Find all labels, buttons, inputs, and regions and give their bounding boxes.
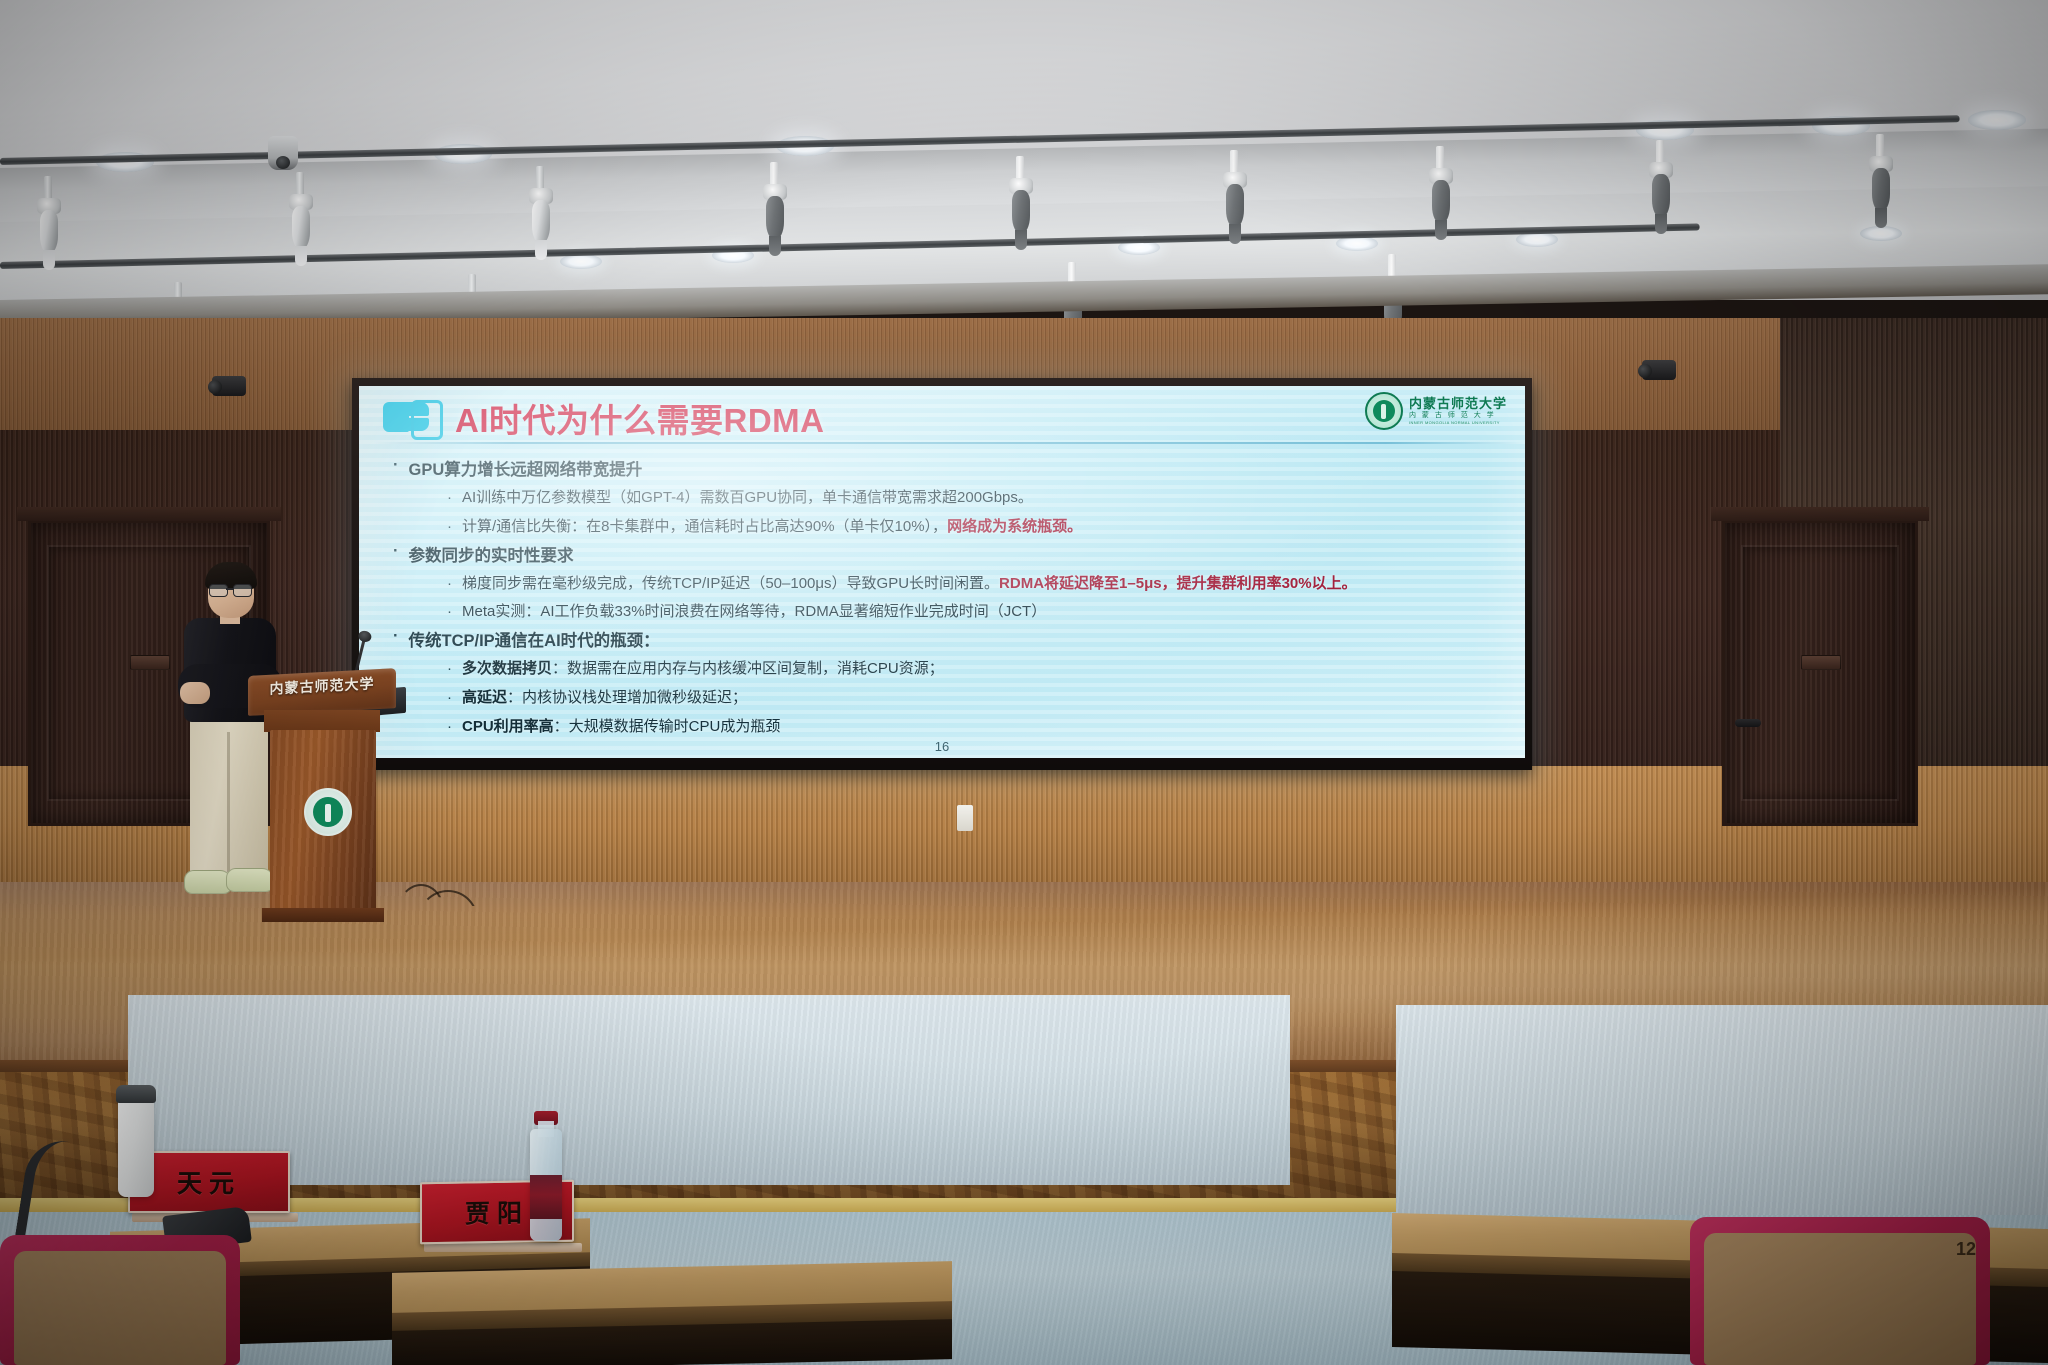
plain-text: ：大规模数据传输时CPU成为瓶颈 (554, 718, 781, 735)
bullet-dot-icon: · (447, 516, 452, 538)
plain-text: Meta实测：AI工作负载33%时间浪费在网络等待，RDMA显著缩短作业完成时间… (462, 603, 1046, 620)
wall-camera-icon (212, 376, 246, 396)
door-handle-icon[interactable] (1735, 719, 1761, 727)
recessed-downlight-icon (1968, 110, 2026, 130)
wall-outlet[interactable] (957, 805, 973, 831)
led-display-screen: AI时代为什么需要RDMA 内蒙古师范大学 内 蒙 古 师 范 大 学 INNE… (352, 378, 1532, 770)
slide-bullet: ·梯度同步需在毫秒级完成，传统TCP/IP延迟（50–100μs）导致GPU长时… (447, 573, 1507, 595)
title-divider (375, 442, 1523, 444)
slide-section-heading: ·传统TCP/IP通信在AI时代的瓶颈： (393, 627, 1507, 651)
university-logo: 内蒙古师范大学 内 蒙 古 师 范 大 学 INNER MONGOLIA NOR… (1365, 392, 1507, 430)
door-sign-plate (1801, 655, 1841, 670)
bullet-text: 计算/通信比失衡：在8卡集群中，通信耗时占比高达90%（单卡仅10%），网络成为… (462, 516, 1082, 538)
plain-text: ：数据需在应用内存与内核缓冲区间复制，消耗CPU资源； (552, 660, 944, 677)
audience-chair-right[interactable]: 12 (1690, 1217, 1990, 1365)
presentation-slide: AI时代为什么需要RDMA 内蒙古师范大学 内 蒙 古 师 范 大 学 INNE… (359, 386, 1525, 758)
podium-body (270, 730, 376, 912)
slide-bullet: ·AI训练中万亿参数模型（如GPT-4）需数百GPU协同，单卡通信带宽需求超20… (447, 487, 1507, 509)
plain-text: ：内核协议栈处理增加微秒级延迟； (507, 689, 747, 706)
bold-term: 多次数据拷贝 (462, 660, 552, 677)
door-sign-plate (130, 655, 170, 670)
bold-term: 高延迟 (462, 689, 507, 706)
slide-section-heading: ·参数同步的实时性要求 (393, 542, 1507, 566)
thermos-cap[interactable] (116, 1085, 156, 1103)
bullet-dot-icon: · (447, 716, 452, 738)
bullet-text: CPU利用率高：大规模数据传输时CPU成为瓶颈 (462, 716, 780, 738)
ceiling (0, 0, 2048, 300)
university-seal-icon (304, 788, 352, 836)
speaker-hand (180, 682, 210, 704)
door-frame-top (1711, 507, 1929, 521)
door-panel (1741, 545, 1899, 801)
slide-bullet: ·多次数据拷贝：数据需在应用内存与内核缓冲区间复制，消耗CPU资源； (447, 658, 1507, 680)
university-name-cn: 内蒙古师范大学 (1409, 397, 1507, 410)
section-heading-text: GPU算力增长远超网络带宽提升 (409, 456, 643, 480)
placard-stand (424, 1243, 582, 1252)
emphasis-text: 网络成为系统瓶颈。 (947, 518, 1082, 535)
seat-number: 12 (1956, 1239, 1976, 1260)
university-name-cn-sub: 内 蒙 古 师 范 大 学 (1409, 412, 1507, 419)
bullet-dot-icon: · (447, 487, 452, 509)
bottle-label (530, 1175, 562, 1219)
slide-bullet: ·CPU利用率高：大规模数据传输时CPU成为瓶颈 (447, 716, 1507, 738)
bullet-dot-icon: · (447, 658, 452, 680)
bullet-dot-icon: · (447, 687, 452, 709)
plain-text: 梯度同步需在毫秒级完成，传统TCP/IP延迟（50–100μs）导致GPU长时间… (462, 575, 999, 592)
thermos-flask[interactable] (118, 1093, 154, 1197)
desk-back-panel-right (1396, 1005, 2048, 1215)
bullet-dot-icon: · (447, 601, 452, 623)
bullet-dash-icon: · (393, 456, 399, 480)
slide-page-number: 16 (359, 739, 1525, 754)
section-heading-text: 传统TCP/IP通信在AI时代的瓶颈： (409, 627, 660, 651)
bullet-text: Meta实测：AI工作负载33%时间浪费在网络等待，RDMA显著缩短作业完成时间… (462, 601, 1046, 623)
recessed-downlight-icon (1860, 226, 1902, 241)
desk-back-panel-left (128, 995, 1290, 1185)
slide-section-heading: ·GPU算力增长远超网络带宽提升 (393, 456, 1507, 480)
slide-body: ·GPU算力增长远超网络带宽提升·AI训练中万亿参数模型（如GPT-4）需数百G… (393, 452, 1507, 737)
wall-camera-icon (1642, 360, 1676, 380)
bullet-dot-icon: · (447, 573, 452, 595)
placard-text: 贾阳 (465, 1193, 529, 1230)
emphasis-text: RDMA将延迟降至1–5μs，提升集群利用率30%以上。 (999, 575, 1357, 592)
ceiling-camera-icon (268, 136, 298, 170)
door-right[interactable] (1722, 520, 1918, 826)
lecture-hall-photo: AI时代为什么需要RDMA 内蒙古师范大学 内 蒙 古 师 范 大 学 INNE… (0, 0, 2048, 1365)
slide-title: AI时代为什么需要RDMA (455, 394, 824, 442)
podium-base (262, 908, 384, 922)
eyeglasses-icon (209, 584, 253, 595)
slide-bullet: ·高延迟：内核协议栈处理增加微秒级延迟； (447, 687, 1507, 709)
bullet-text: AI训练中万亿参数模型（如GPT-4）需数百GPU协同，单卡通信带宽需求超200… (462, 487, 1033, 509)
bullet-dash-icon: · (393, 542, 399, 566)
plain-text: 计算/通信比失衡：在8卡集群中，通信耗时占比高达90%（单卡仅10%）， (462, 518, 947, 535)
recessed-downlight-icon (560, 254, 602, 269)
slide-bullet: ·计算/通信比失衡：在8卡集群中，通信耗时占比高达90%（单卡仅10%），网络成… (447, 516, 1507, 538)
lectern-podium: 内蒙古师范大学 (248, 672, 396, 922)
door-frame-top (17, 507, 281, 521)
audience-chair-left[interactable] (0, 1235, 240, 1365)
bold-term: CPU利用率高 (462, 718, 554, 735)
bullet-text: 多次数据拷贝：数据需在应用内存与内核缓冲区间复制，消耗CPU资源； (462, 658, 944, 680)
plain-text: AI训练中万亿参数模型（如GPT-4）需数百GPU协同，单卡通信带宽需求超200… (462, 489, 1033, 506)
bullet-dash-icon: · (393, 627, 399, 651)
bullet-text: 高延迟：内核协议栈处理增加微秒级延迟； (462, 687, 747, 709)
water-bottle[interactable] (530, 1129, 562, 1241)
bullet-text: 梯度同步需在毫秒级完成，传统TCP/IP延迟（50–100μs）导致GPU长时间… (462, 573, 1357, 595)
slide-bullet: ·Meta实测：AI工作负载33%时间浪费在网络等待，RDMA显著缩短作业完成时… (447, 601, 1507, 623)
section-heading-text: 参数同步的实时性要求 (409, 542, 574, 566)
university-seal-icon (1365, 392, 1403, 430)
university-name-en: INNER MONGOLIA NORMAL UNIVERSITY (1409, 421, 1507, 425)
placard-text: 天元 (177, 1164, 241, 1200)
podium-neck (264, 710, 380, 732)
teal-abstract-logo-icon (381, 398, 441, 442)
